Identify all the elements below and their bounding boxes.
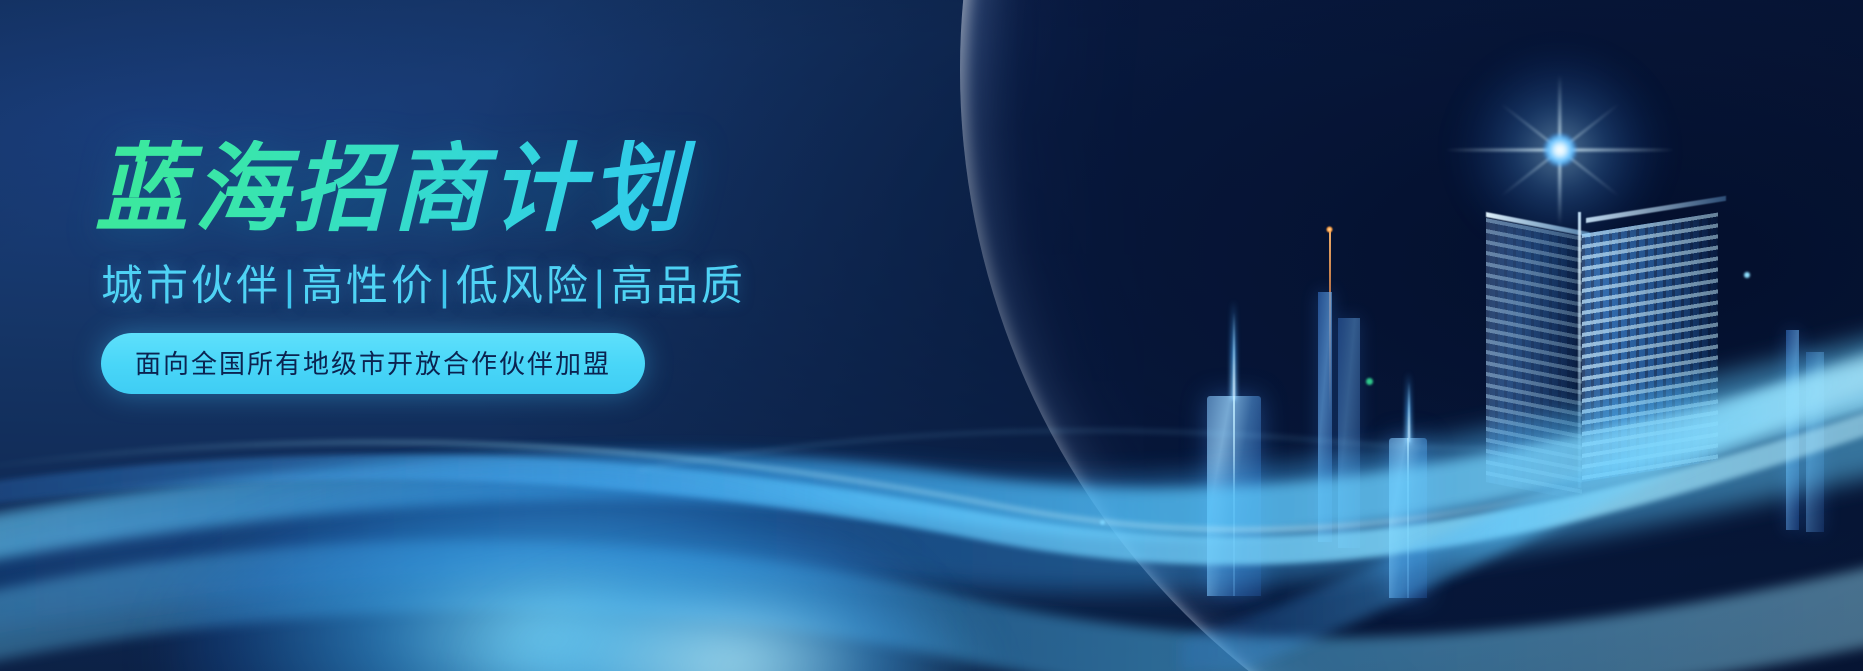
subtitle-separator: | [591, 262, 611, 309]
subtitle-line: 城市伙伴|高性价|低风险|高品质 [101, 263, 746, 309]
promo-banner: 蓝海招商计划 城市伙伴|高性价|低风险|高品质 面向全国所有地级市开放合作伙伴加… [0, 0, 1863, 671]
subtitle-separator: | [281, 262, 301, 309]
subtitle-part-1: 城市伙伴 [101, 262, 281, 309]
subtitle-part-3: 低风险 [456, 262, 591, 309]
subtitle-part-2: 高性价 [301, 262, 436, 309]
call-to-action-badge[interactable]: 面向全国所有地级市开放合作伙伴加盟 [101, 333, 645, 394]
subtitle-part-4: 高品质 [611, 262, 746, 309]
headline-block: 蓝海招商计划 城市伙伴|高性价|低风险|高品质 面向全国所有地级市开放合作伙伴加… [95, 140, 746, 394]
page-title: 蓝海招商计划 [95, 140, 726, 241]
subtitle-separator: | [436, 262, 456, 309]
